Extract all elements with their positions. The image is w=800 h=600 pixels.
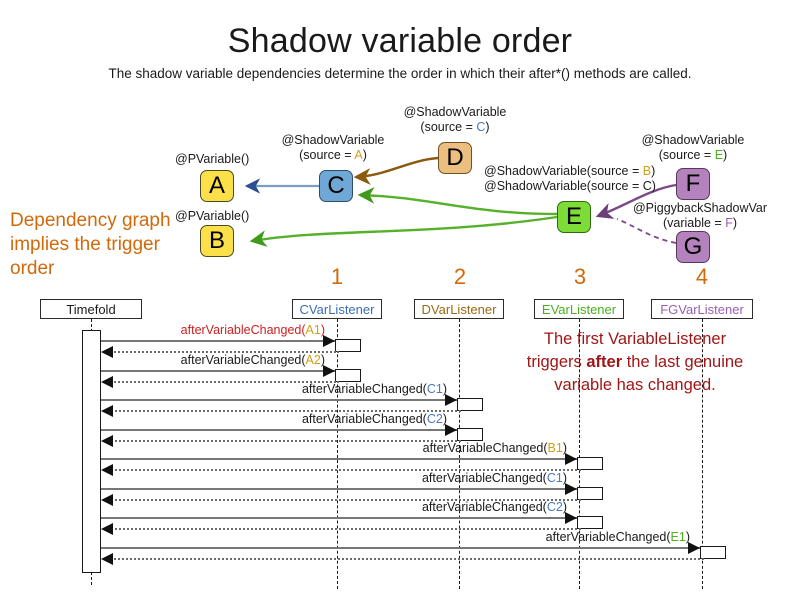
message-paren: ) xyxy=(563,500,567,514)
return-arrowhead-icon xyxy=(101,464,113,476)
annotation-c-source: A xyxy=(354,148,362,162)
graph-node-e[interactable]: E xyxy=(557,201,591,233)
message-call-line xyxy=(101,547,700,549)
annotation-a: @PVariable() xyxy=(175,152,249,167)
message-paren: ) xyxy=(563,471,567,485)
participant-number-4: 4 xyxy=(672,264,732,290)
message-call-line xyxy=(101,429,457,431)
message-method-name: afterVariableChanged( xyxy=(546,530,671,544)
message-label: afterVariableChanged(C1) xyxy=(197,382,447,396)
message-label: afterVariableChanged(A2) xyxy=(75,353,325,367)
return-arrowhead-icon xyxy=(101,494,113,506)
message-method-name: afterVariableChanged( xyxy=(181,353,306,367)
annotation-g: @PiggybackShadowVar (variable = F) xyxy=(610,201,790,231)
return-arrowhead-icon xyxy=(101,405,113,417)
annotation-g-line1: @PiggybackShadowVar xyxy=(610,201,790,216)
annotation-d: @ShadowVariable (source = C) xyxy=(395,105,515,135)
page-title: Shadow variable order xyxy=(0,22,800,61)
participant-number-1: 1 xyxy=(307,264,367,290)
message-label: afterVariableChanged(A1) xyxy=(75,323,325,337)
annotation-c-line1: @ShadowVariable xyxy=(273,133,393,148)
callout-line1: The first VariableListener xyxy=(470,328,800,351)
message-call-line xyxy=(101,340,335,342)
lifeline-evarlistener xyxy=(579,319,580,589)
message-paren: ) xyxy=(321,323,325,337)
callout-line3: variable has changed. xyxy=(470,374,800,397)
message-call-line xyxy=(101,370,335,372)
annotation-c: @ShadowVariable (source = A) xyxy=(273,133,393,163)
message-return-line xyxy=(111,558,704,560)
message-paren: ) xyxy=(321,353,325,367)
lifeline-head-fgvarlistener[interactable]: FGVarListener xyxy=(651,299,753,319)
diagram-canvas: Shadow variable order The shadow variabl… xyxy=(0,0,800,600)
callout-bold-after: after xyxy=(586,353,622,371)
message-method-name: afterVariableChanged( xyxy=(423,441,548,455)
graph-node-f[interactable]: F xyxy=(676,168,710,200)
lifeline-head-evarlistener[interactable]: EVarListener xyxy=(534,299,624,319)
message-argument: E1 xyxy=(671,530,686,544)
message-argument: C2 xyxy=(547,500,563,514)
message-method-name: afterVariableChanged( xyxy=(422,500,547,514)
callout-line2: triggers after the last genuine xyxy=(470,351,800,374)
message-label: afterVariableChanged(E1) xyxy=(440,530,690,544)
message-argument: C2 xyxy=(427,412,443,426)
annotation-f-source: E xyxy=(715,148,723,162)
graph-node-a[interactable]: A xyxy=(200,170,234,202)
callout-note: The first VariableListener triggers afte… xyxy=(470,328,800,397)
annotation-g-line2: (variable = F) xyxy=(610,216,790,231)
message-paren: ) xyxy=(443,412,447,426)
return-arrowhead-icon xyxy=(101,523,113,535)
message-call-line xyxy=(101,399,457,401)
message-call-line xyxy=(101,458,577,460)
annotation-e: @ShadowVariable(source = B) @ShadowVaria… xyxy=(484,164,656,194)
message-label: afterVariableChanged(C1) xyxy=(317,471,567,485)
lifeline-head-dvarlistener[interactable]: DVarListener xyxy=(414,299,504,319)
annotation-e-source: B xyxy=(643,164,651,178)
annotation-e-line1: @ShadowVariable(source = B) xyxy=(484,164,656,179)
annotation-f: @ShadowVariable (source = E) xyxy=(633,133,753,163)
return-arrowhead-icon xyxy=(101,376,113,388)
graph-node-g[interactable]: G xyxy=(676,231,710,263)
message-argument: C1 xyxy=(427,382,443,396)
message-paren: ) xyxy=(563,441,567,455)
participant-number-2: 2 xyxy=(430,264,490,290)
message-paren: ) xyxy=(443,382,447,396)
graph-node-d[interactable]: D xyxy=(438,142,472,174)
message-call-line xyxy=(101,488,577,490)
message-label: afterVariableChanged(B1) xyxy=(317,441,567,455)
message-argument: A2 xyxy=(306,353,321,367)
message-label: afterVariableChanged(C2) xyxy=(197,412,447,426)
message-argument: B1 xyxy=(548,441,563,455)
message-method-name: afterVariableChanged( xyxy=(422,471,547,485)
message-method-name: afterVariableChanged( xyxy=(302,382,427,396)
lifeline-head-timefold[interactable]: Timefold xyxy=(40,299,142,319)
annotation-f-line2: (source = E) xyxy=(633,148,753,163)
lifeline-head-cvarlistener[interactable]: CVarListener xyxy=(292,299,382,319)
annotation-b: @PVariable() xyxy=(175,209,249,224)
message-argument: C1 xyxy=(547,471,563,485)
annotation-c-line2: (source = A) xyxy=(273,148,393,163)
graph-node-c[interactable]: C xyxy=(319,170,353,202)
message-call-line xyxy=(101,517,577,519)
return-arrowhead-icon xyxy=(101,553,113,565)
message-method-name: afterVariableChanged( xyxy=(181,323,306,337)
page-subtitle: The shadow variable dependencies determi… xyxy=(0,66,800,81)
annotation-e-line2: @ShadowVariable(source = C) xyxy=(484,179,656,194)
graph-node-b[interactable]: B xyxy=(200,225,234,257)
annotation-g-variable: F xyxy=(725,216,733,230)
return-arrowhead-icon xyxy=(101,435,113,447)
message-argument: A1 xyxy=(306,323,321,337)
participant-number-3: 3 xyxy=(550,264,610,290)
message-label: afterVariableChanged(C2) xyxy=(317,500,567,514)
annotation-f-line1: @ShadowVariable xyxy=(633,133,753,148)
message-paren: ) xyxy=(686,530,690,544)
annotation-d-line2: (source = C) xyxy=(395,120,515,135)
dependency-note: Dependency graph implies the trigger ord… xyxy=(10,209,180,281)
message-method-name: afterVariableChanged( xyxy=(302,412,427,426)
annotation-d-line1: @ShadowVariable xyxy=(395,105,515,120)
